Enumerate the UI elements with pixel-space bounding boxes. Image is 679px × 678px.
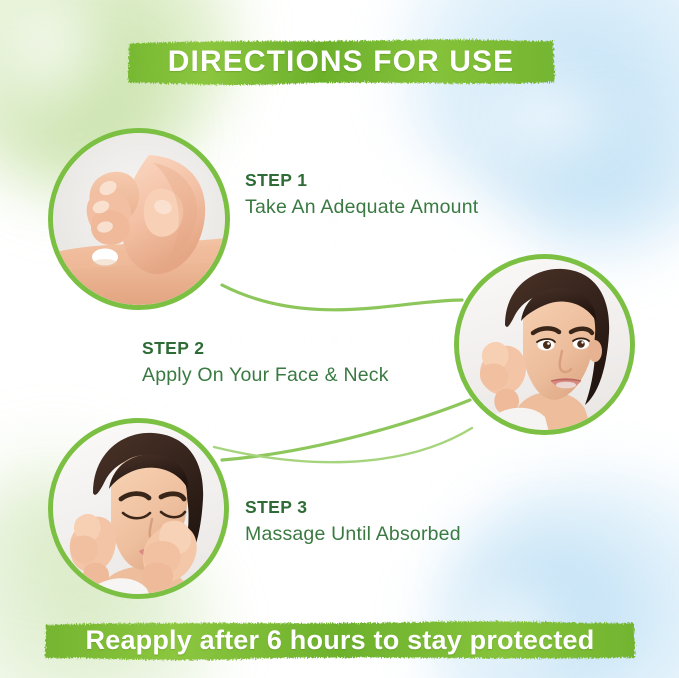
footer-banner: Reapply after 6 hours to stay protected	[42, 617, 638, 664]
woman-massaging-face-illustration	[53, 423, 224, 594]
connector-step2-to-step3	[222, 400, 470, 460]
step-3-text-block: STEP 3 Massage Until Absorbed	[245, 497, 461, 546]
directions-for-use-infographic: DIRECTIONS FOR USE	[0, 0, 679, 678]
step-1-label: STEP 1	[245, 170, 478, 191]
step-3-label: STEP 3	[245, 497, 461, 518]
hand-cream-illustration	[53, 133, 225, 305]
step-1-description: Take An Adequate Amount	[245, 196, 478, 219]
connector-step1-to-step2	[222, 285, 462, 310]
woman-applying-cream-to-face-photo	[459, 259, 630, 430]
header-banner: DIRECTIONS FOR USE	[125, 34, 557, 90]
woman-massaging-face-photo	[53, 423, 224, 594]
step-2-text-block: STEP 2 Apply On Your Face & Neck	[142, 338, 389, 387]
step-3-image-circle[interactable]	[48, 418, 229, 599]
step-1-image-circle[interactable]	[48, 128, 230, 310]
step-1-text-block: STEP 1 Take An Adequate Amount	[245, 170, 478, 219]
woman-face-smiling-illustration	[459, 259, 630, 430]
step-2-image-circle[interactable]	[454, 254, 635, 435]
step-3-description: Massage Until Absorbed	[245, 523, 461, 546]
hand-dispensing-cream-photo	[53, 133, 225, 305]
header-title: DIRECTIONS FOR USE	[168, 45, 515, 79]
step-2-label: STEP 2	[142, 338, 389, 359]
footer-title: Reapply after 6 hours to stay protected	[86, 625, 595, 656]
step-2-description: Apply On Your Face & Neck	[142, 364, 389, 387]
